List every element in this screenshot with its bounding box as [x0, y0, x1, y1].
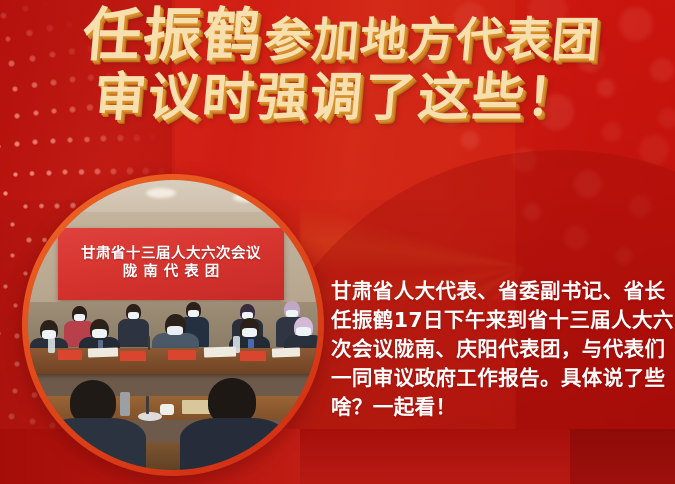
microphone-base	[138, 412, 162, 421]
name-plate	[240, 351, 266, 361]
body-line: 次会议陇南、庆阳代表团，与代表们	[331, 335, 667, 364]
name-plate	[120, 351, 146, 361]
ceiling-light	[146, 188, 176, 198]
meeting-photo: 甘肃省十三届人大六次会议 陇南代表团	[28, 180, 318, 470]
body-line: 任振鹤17日下午来到省十三届人大六	[331, 306, 667, 335]
poster-canvas: 任振鹤参加地方代表团 审议时强调了这些！ 甘肃省十三届人大六次会议 陇南代表团	[0, 0, 675, 484]
ceiling-light	[70, 192, 96, 201]
headline-line-2: 审议时强调了这些！	[0, 72, 675, 124]
photo-ring: 甘肃省十三届人大六次会议 陇南代表团	[22, 174, 324, 476]
name-plate	[58, 350, 82, 360]
documents	[204, 346, 236, 357]
water-bottle	[48, 338, 55, 353]
documents	[88, 347, 118, 357]
body-line: 啥？一起看！	[331, 393, 667, 422]
documents	[272, 348, 300, 358]
thermos	[120, 392, 130, 416]
bokeh-light	[602, 122, 622, 142]
headline-name: 任振鹤	[81, 6, 266, 64]
bokeh-light	[461, 131, 479, 149]
ceiling-light	[233, 193, 259, 202]
microphone	[148, 336, 150, 350]
name-plate	[168, 350, 196, 360]
conference-banner: 甘肃省十三届人大六次会议 陇南代表团	[58, 228, 284, 300]
banner-line-1: 甘肃省十三届人大六次会议	[81, 246, 261, 263]
headline-line-1: 任振鹤参加地方代表团	[8, 6, 675, 64]
body-line: 甘肃省人大代表、省委副书记、省长	[331, 277, 667, 306]
headline-line-2-text: 审议时强调了这些！	[92, 72, 583, 124]
headline: 任振鹤参加地方代表团 审议时强调了这些！	[0, 6, 675, 124]
banner-line-2: 陇南代表团	[117, 263, 226, 282]
body-line: 一同审议政府工作报告。具体说了些	[331, 364, 667, 393]
microphone	[146, 396, 149, 414]
tea-cup	[160, 404, 174, 415]
body-copy: 甘肃省人大代表、省委副书记、省长 任振鹤17日下午来到省十三届人大六 次会议陇南…	[331, 277, 667, 422]
headline-line-1-rest: 参加地方代表团	[261, 17, 601, 64]
water-bottle	[233, 336, 240, 353]
